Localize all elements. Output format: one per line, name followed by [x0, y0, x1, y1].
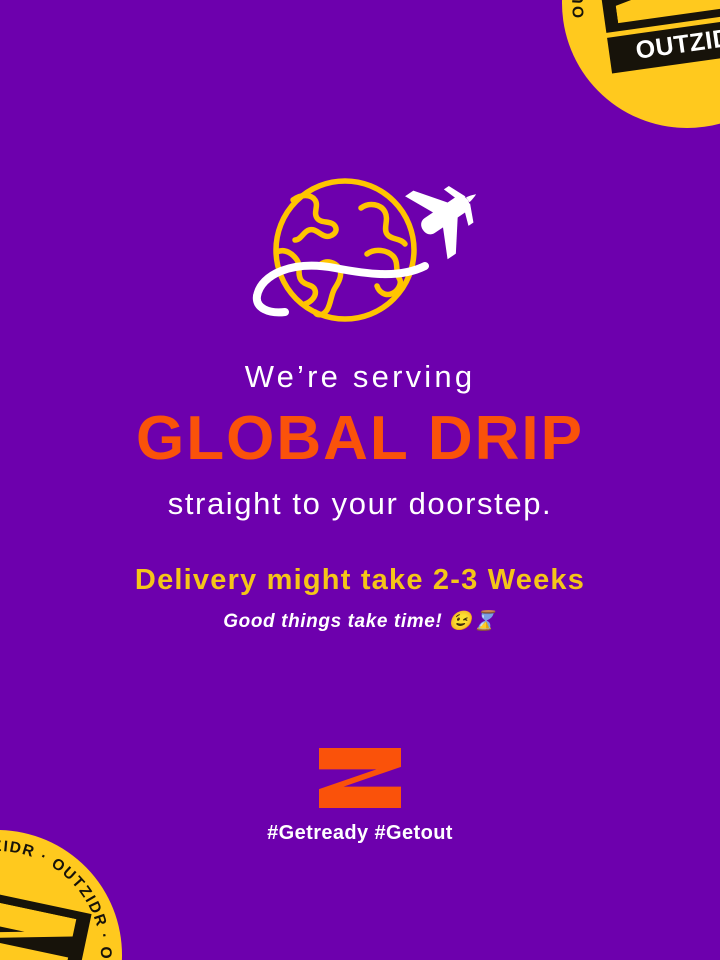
delivery-notice-text: Delivery might take 2-3 Weeks — [0, 565, 720, 597]
copy-block: We’re serving GLOBAL DRIP straight to yo… — [0, 360, 720, 634]
subhead-text: straight to your doorstep. — [0, 487, 720, 521]
footer-lockup: #Getready #Getout — [0, 748, 720, 845]
promo-poster: OUTZIDR · OUTZIDR · OUTZIDR · OUTZIDR · … — [0, 0, 720, 960]
headline-text: GLOBAL DRIP — [0, 406, 720, 473]
brand-sticker-top-right: OUTZIDR · OUTZIDR · OUTZIDR · OUTZIDR · … — [546, 0, 720, 144]
globe-airplane-emblem — [235, 168, 485, 348]
globe-icon — [276, 181, 414, 319]
z-glyph — [610, 0, 720, 23]
z-logo-mark — [319, 748, 401, 808]
hashtags-text: #Getready #Getout — [0, 822, 720, 845]
reassurance-text: Good things take time! 😉⌛ — [0, 611, 720, 634]
z-glyph — [319, 748, 401, 808]
orbit-swoosh-tail — [257, 296, 285, 312]
eyebrow-text: We’re serving — [0, 360, 720, 394]
